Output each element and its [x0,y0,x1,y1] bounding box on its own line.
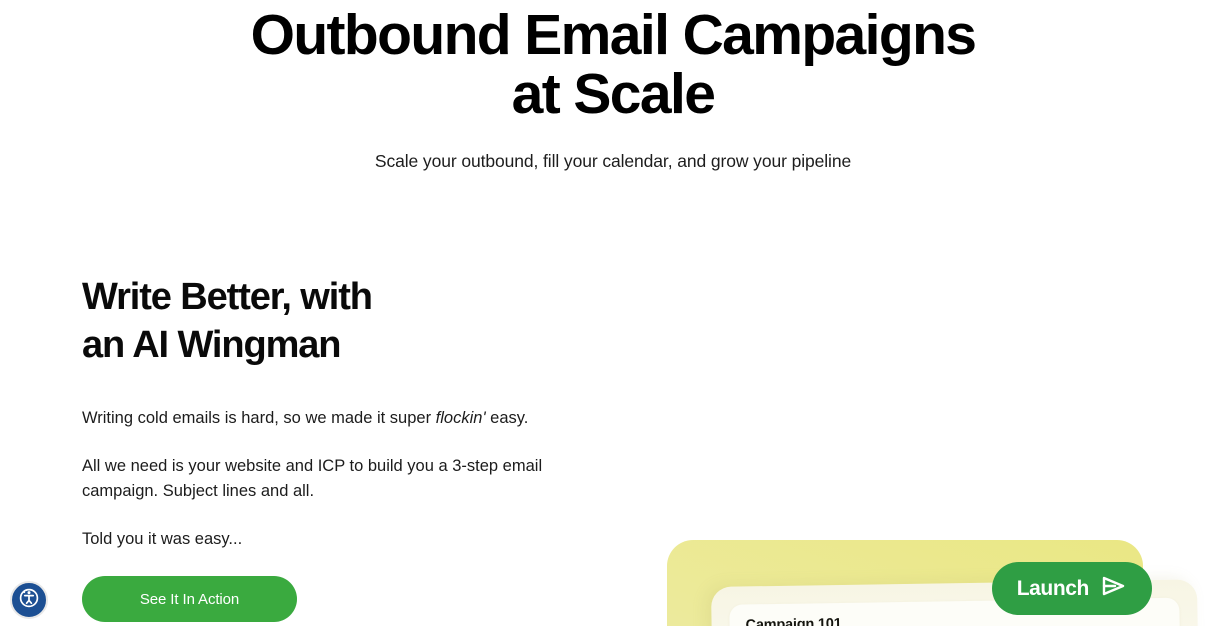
page-title-line-2: at Scale [512,62,715,126]
accessibility-icon [17,586,41,615]
feature-paragraph-1-after: easy. [486,409,529,427]
launch-button[interactable]: Launch [992,562,1152,615]
feature-paragraph-1: Writing cold emails is hard, so we made … [82,406,612,432]
send-icon [1101,575,1127,603]
feature-section: Write Better, with an AI Wingman Writing… [0,262,1226,626]
feature-title: Write Better, with an AI Wingman [82,274,642,369]
feature-paragraph-2: All we need is your website and ICP to b… [82,454,612,505]
feature-paragraph-3: Told you it was easy... [82,527,612,553]
hero-section: Outbound Email Campaigns at Scale Scale … [0,0,1226,172]
accessibility-widget-button[interactable] [10,581,48,619]
page-subtitle: Scale your outbound, fill your calendar,… [0,151,1226,172]
feature-title-line-1: Write Better, with [82,276,372,318]
launch-button-label: Launch [1017,577,1089,601]
campaign-mockup-card: Campaign 101 Total leads added: 12,669 S… [667,540,1143,626]
see-it-in-action-button[interactable]: See It In Action [82,576,297,622]
page-title: Outbound Email Campaigns at Scale [163,6,1063,123]
feature-title-line-2: an AI Wingman [82,324,340,366]
feature-paragraph-1-before: Writing cold emails is hard, so we made … [82,409,436,427]
page-title-line-1: Outbound Email Campaigns [251,3,976,67]
feature-paragraph-1-emphasis: flockin' [436,409,486,427]
feature-text-column: Write Better, with an AI Wingman Writing… [82,274,642,552]
